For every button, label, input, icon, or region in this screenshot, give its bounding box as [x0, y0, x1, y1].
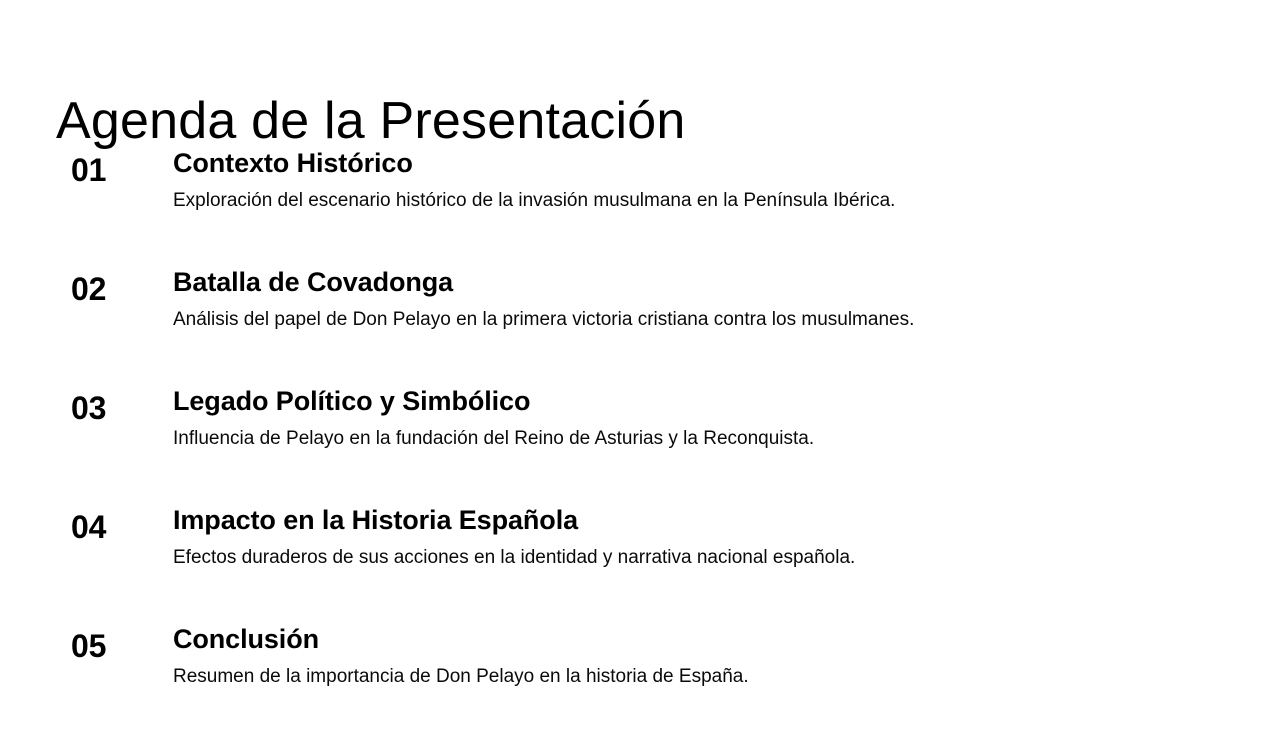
agenda-item-number: 04: [71, 507, 161, 547]
agenda-item-body: Contexto Histórico Exploración del escen…: [173, 146, 1256, 214]
agenda-item-number: 05: [71, 626, 161, 666]
agenda-item-heading: Legado Político y Simbólico: [173, 384, 1256, 419]
agenda-item-description: Análisis del papel de Don Pelayo en la p…: [173, 307, 1256, 333]
agenda-item-body: Conclusión Resumen de la importancia de …: [173, 622, 1256, 690]
agenda-item-heading: Impacto en la Historia Española: [173, 503, 1256, 538]
agenda-item-heading: Contexto Histórico: [173, 146, 1256, 181]
agenda-item-number: 03: [71, 388, 161, 428]
list-item: 04 Impacto en la Historia Española Efect…: [0, 503, 1280, 622]
agenda-item-body: Legado Político y Simbólico Influencia d…: [173, 384, 1256, 452]
agenda-list: 01 Contexto Histórico Exploración del es…: [0, 146, 1280, 741]
page-title: Agenda de la Presentación: [56, 90, 685, 152]
agenda-item-body: Batalla de Covadonga Análisis del papel …: [173, 265, 1256, 333]
agenda-item-description: Efectos duraderos de sus acciones en la …: [173, 545, 1256, 571]
agenda-item-number: 01: [71, 150, 161, 190]
agenda-item-description: Resumen de la importancia de Don Pelayo …: [173, 664, 1256, 690]
presentation-slide: Agenda de la Presentación 01 Contexto Hi…: [0, 0, 1280, 720]
agenda-item-body: Impacto en la Historia Española Efectos …: [173, 503, 1256, 571]
agenda-item-description: Influencia de Pelayo en la fundación del…: [173, 426, 1256, 452]
agenda-item-heading: Conclusión: [173, 622, 1256, 657]
list-item: 05 Conclusión Resumen de la importancia …: [0, 622, 1280, 741]
list-item: 02 Batalla de Covadonga Análisis del pap…: [0, 265, 1280, 384]
list-item: 01 Contexto Histórico Exploración del es…: [0, 146, 1280, 265]
agenda-item-description: Exploración del escenario histórico de l…: [173, 188, 1256, 214]
agenda-item-number: 02: [71, 269, 161, 309]
agenda-item-heading: Batalla de Covadonga: [173, 265, 1256, 300]
list-item: 03 Legado Político y Simbólico Influenci…: [0, 384, 1280, 503]
